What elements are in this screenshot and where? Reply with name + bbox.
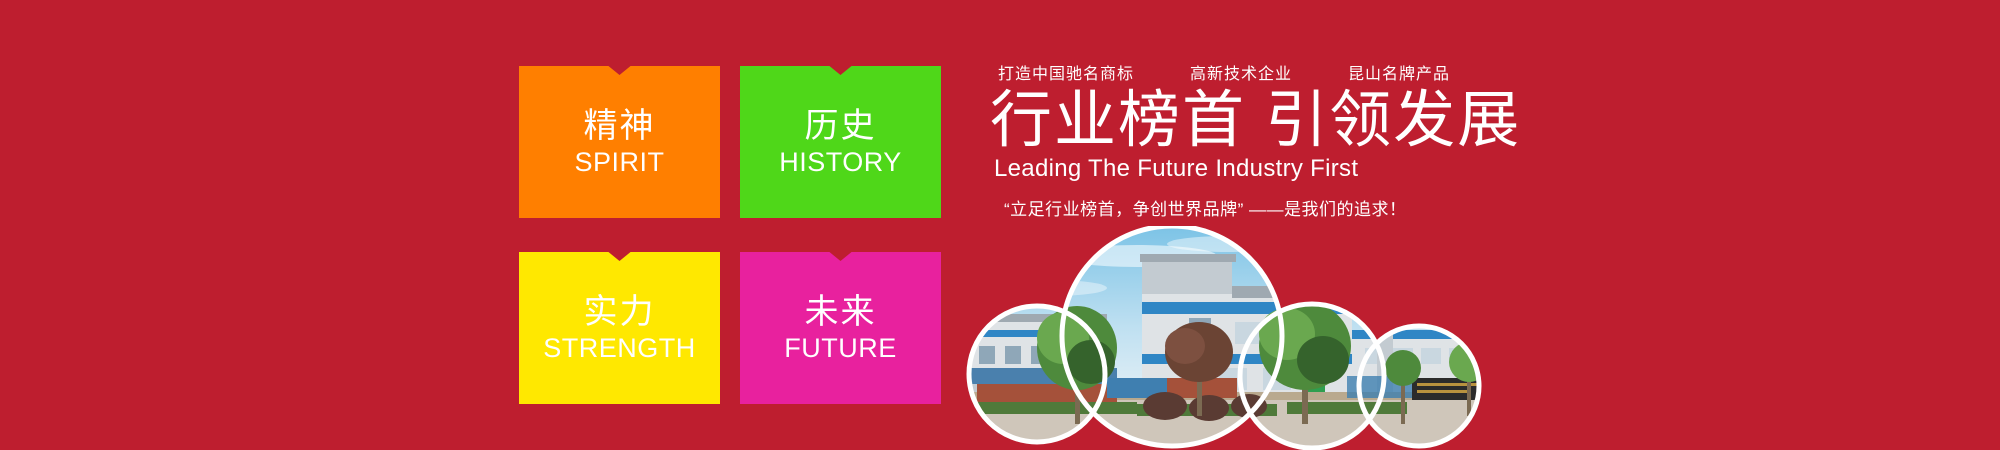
tile-history-cn: 历史 [805,109,877,143]
tile-strength-en: STRENGTH [543,335,696,362]
tile-future[interactable]: 未来 FUTURE [740,252,941,404]
photo-content [957,226,1487,450]
tile-spirit-en: SPIRIT [574,149,664,176]
tile-future-en: FUTURE [784,335,897,362]
promo-banner: 精神 SPIRIT 历史 HISTORY 实力 STRENGTH 未来 FUTU… [0,0,2000,450]
credential-item-0: 打造中国驰名商标 [998,60,1134,84]
credential-item-1: 高新技术企业 [1190,60,1292,84]
page-title: 行业榜首 引领发展 [990,88,1510,153]
tile-strength[interactable]: 实力 STRENGTH [519,252,720,404]
subtitle: Leading The Future Industry First [990,155,1510,183]
tile-history[interactable]: 历史 HISTORY [740,66,941,218]
tile-spirit[interactable]: 精神 SPIRIT [519,66,720,218]
credential-list: 打造中国驰名商标 高新技术企业 昆山名牌产品 [990,60,1510,84]
tile-history-en: HISTORY [779,149,902,176]
tile-strength-cn: 实力 [584,295,656,329]
tile-future-cn: 未来 [805,295,877,329]
credential-item-2: 昆山名牌产品 [1348,60,1450,84]
slogan-quote: “立足行业榜首，争创世界品牌” ——是我们的追求！ [990,195,1510,220]
factory-photo [957,226,1487,450]
tile-spirit-cn: 精神 [584,109,656,143]
headline-block: 打造中国驰名商标 高新技术企业 昆山名牌产品 行业榜首 引领发展 Leading… [990,60,1510,220]
cloud-photo-svg [957,226,1487,450]
tile-grid: 精神 SPIRIT 历史 HISTORY 实力 STRENGTH 未来 FUTU… [519,66,941,406]
